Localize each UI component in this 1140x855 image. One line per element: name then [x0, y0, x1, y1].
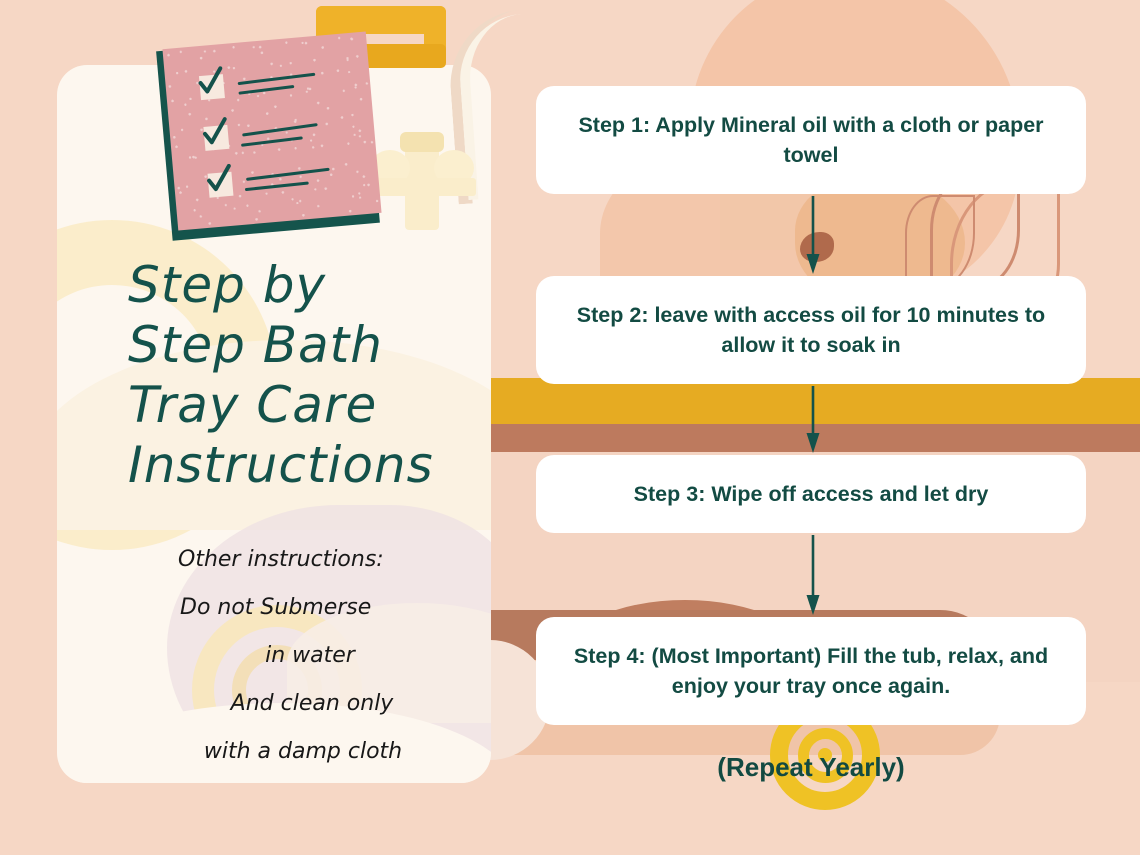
arrow-down-icon	[806, 386, 820, 453]
step-card-3[interactable]: Step 3: Wipe off access and let dry	[536, 455, 1086, 533]
other-instructions-line-1: Do not Submerse	[150, 584, 450, 632]
flow-arrow-1	[806, 196, 820, 274]
flow-arrow-3	[806, 535, 820, 615]
page-title: Step by Step Bath Tray Care Instructions	[128, 255, 448, 495]
other-instructions-block: Other instructions: Do not Submerse in w…	[150, 536, 450, 776]
page-title-line-4: Instructions	[128, 435, 448, 495]
step-4-text: Step 4: (Most Important) Fill the tub, r…	[564, 641, 1058, 701]
arrow-down-icon	[806, 196, 820, 274]
other-instructions-line-4: with a damp cloth	[150, 728, 450, 776]
page-title-line-3: Tray Care	[128, 375, 448, 435]
poster-canvas: Step by Step Bath Tray Care Instructions…	[0, 0, 1140, 855]
repeat-yearly-note: (Repeat Yearly)	[536, 752, 1086, 783]
flow-arrow-2	[806, 386, 820, 453]
step-1-text: Step 1: Apply Mineral oil with a cloth o…	[564, 110, 1058, 170]
page-title-line-1: Step by	[128, 255, 448, 315]
other-instructions-heading: Other instructions:	[150, 536, 450, 584]
other-instructions-line-2: in water	[150, 632, 450, 680]
arrow-down-icon	[806, 535, 820, 615]
step-card-2[interactable]: Step 2: leave with access oil for 10 min…	[536, 276, 1086, 384]
page-title-line-2: Step Bath	[128, 315, 448, 375]
step-2-text: Step 2: leave with access oil for 10 min…	[564, 300, 1058, 360]
step-card-1[interactable]: Step 1: Apply Mineral oil with a cloth o…	[536, 86, 1086, 194]
other-instructions-line-3: And clean only	[150, 680, 450, 728]
poster-content: Step by Step Bath Tray Care Instructions…	[0, 0, 1140, 855]
step-card-4[interactable]: Step 4: (Most Important) Fill the tub, r…	[536, 617, 1086, 725]
step-3-text: Step 3: Wipe off access and let dry	[634, 479, 989, 509]
